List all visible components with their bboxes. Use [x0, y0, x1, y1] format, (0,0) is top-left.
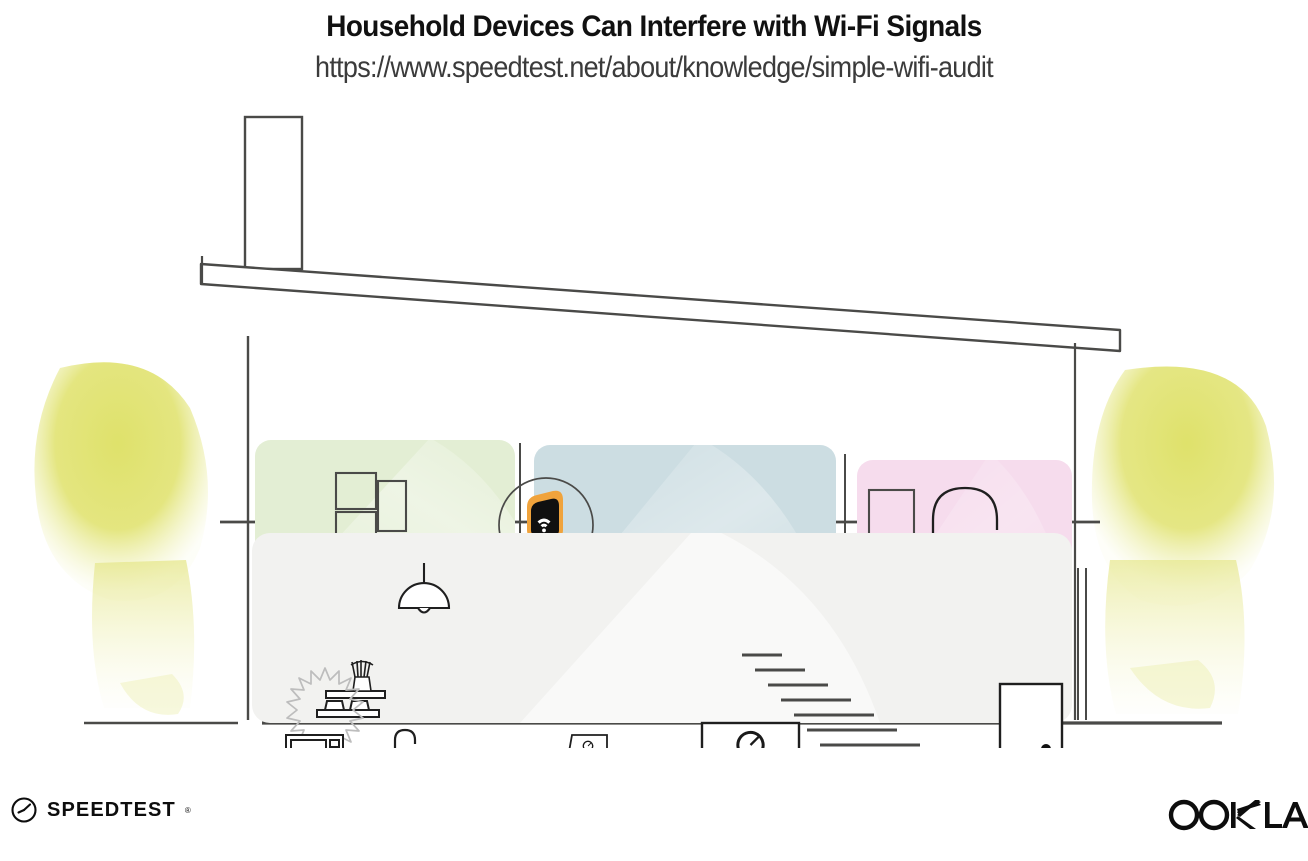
page-title: Household Devices Can Interfere with Wi-…: [46, 10, 1262, 44]
speedtest-wordmark: SPEEDTEST: [47, 799, 176, 822]
speedtest-logo: SPEEDTEST ®: [10, 796, 191, 824]
speedtest-gauge-icon: [10, 796, 38, 824]
foliage-right: [1092, 366, 1274, 714]
roof: [201, 256, 1120, 351]
infographic-canvas: Household Devices Can Interfere with Wi-…: [0, 0, 1308, 861]
ookla-wordmark-graphic: ®: [1162, 798, 1308, 832]
ookla-logo: ®: [1162, 798, 1308, 837]
laptop: SPEEDTEST: [560, 735, 612, 748]
room-ground-floor: SPEEDTEST: [252, 523, 1072, 748]
chimney: [245, 117, 302, 269]
ookla-k-swoosh: [1231, 800, 1261, 829]
microwave: [286, 735, 343, 748]
source-url: https://www.speedtest.net/about/knowledg…: [65, 51, 1242, 85]
kitchen-sink-faucet: [395, 730, 415, 748]
header: Household Devices Can Interfere with Wi-…: [0, 0, 1308, 85]
foliage-left: [34, 362, 208, 715]
house-illustration: SPEEDTEST: [0, 108, 1308, 748]
front-door: [1000, 684, 1062, 748]
footer: SPEEDTEST ® ®: [0, 790, 1308, 850]
wifi-router-icon: [527, 491, 563, 538]
speedtest-trademark: ®: [185, 806, 191, 815]
